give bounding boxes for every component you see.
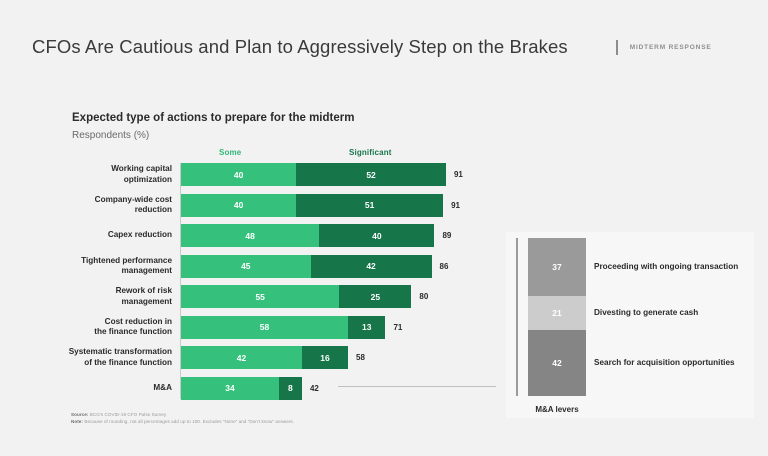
mna-segment: 21	[528, 296, 586, 329]
mna-caption: M&A levers	[528, 405, 586, 414]
bar-category-label-line: Working capital	[54, 164, 172, 175]
slide-header: CFOs Are Cautious and Plan to Aggressive…	[32, 33, 736, 61]
source-note: Source: BCG's COVID-19 CFO Pulse Survey	[71, 412, 294, 419]
bar-total-label: 91	[454, 163, 463, 186]
chart-subtitle: Respondents (%)	[72, 130, 149, 141]
bar-segment-significant: 25	[339, 285, 411, 308]
bar-category-label: Cost reduction inthe finance function	[54, 317, 172, 338]
bar-segment-some: 58	[181, 316, 348, 339]
bar-segment-significant: 8	[279, 377, 302, 400]
bar-segment-significant: 42	[311, 255, 432, 278]
bar-category-label-line: M&A	[54, 383, 172, 394]
bar-segment-some: 40	[181, 163, 296, 186]
bar-category-label-line: of the finance function	[54, 358, 172, 369]
bar-category-label-line: Cost reduction in	[54, 317, 172, 328]
header-divider	[616, 40, 618, 55]
method-note: Note: Because of rounding, not all perce…	[71, 419, 294, 426]
bar-total-label: 91	[451, 194, 460, 217]
bar-total-label: 80	[419, 285, 428, 308]
mna-connector-line	[338, 386, 496, 387]
bar-segment-significant: 13	[348, 316, 385, 339]
bar-total-label: 89	[442, 224, 451, 247]
note-text: Because of rounding, not all percentages…	[83, 419, 294, 424]
bar-segment-significant: 52	[296, 163, 446, 186]
source-label: Source:	[71, 412, 88, 417]
note-label: Note:	[71, 419, 83, 424]
header-tag-label: MIDTERM RESPONSE	[630, 44, 712, 51]
bar-segment-some: 40	[181, 194, 296, 217]
mna-segment: 42	[528, 330, 586, 396]
bar-category-label-line: Rework of risk	[54, 286, 172, 297]
bar-category-label-line: the finance function	[54, 327, 172, 338]
bar-category-label-line: optimization	[54, 175, 172, 186]
mna-category-label: Divesting to generate cash	[594, 308, 698, 317]
bar-segment-some: 42	[181, 346, 302, 369]
bar-category-label-line: reduction	[54, 205, 172, 216]
bar-segment-significant: 51	[296, 194, 443, 217]
footnotes: Source: BCG's COVID-19 CFO Pulse Survey …	[71, 412, 294, 425]
mna-category-label: Search for acquisition opportunities	[594, 358, 735, 367]
mna-segment: 37	[528, 238, 586, 296]
bar-category-label-line: Capex reduction	[54, 230, 172, 241]
chart-title: Expected type of actions to prepare for …	[72, 112, 354, 124]
bar-segment-some: 55	[181, 285, 339, 308]
bar-category-label: Tightened performancemanagement	[54, 256, 172, 277]
bar-category-label: Company-wide costreduction	[54, 195, 172, 216]
bar-segment-some: 34	[181, 377, 279, 400]
bar-category-label-line: management	[54, 266, 172, 277]
source-text: BCG's COVID-19 CFO Pulse Survey	[88, 412, 166, 417]
bar-segment-some: 45	[181, 255, 311, 278]
slide-canvas: CFOs Are Cautious and Plan to Aggressive…	[0, 0, 768, 456]
mna-panel-axis	[516, 238, 518, 396]
bar-category-label-line: management	[54, 297, 172, 308]
bar-category-label: Working capitaloptimization	[54, 164, 172, 185]
bar-chart-plot: 4052914051914840894542865525805813714216…	[181, 163, 481, 399]
mna-category-label: Proceeding with ongoing transaction	[594, 262, 738, 271]
bar-total-label: 58	[356, 346, 365, 369]
mna-stacked-bar: 372142	[528, 238, 586, 396]
bar-total-label: 86	[440, 255, 449, 278]
legend-item-some: Some	[219, 148, 241, 157]
bar-category-label-line: Company-wide cost	[54, 195, 172, 206]
bar-category-label: Capex reduction	[54, 230, 172, 241]
header-tag-group: MIDTERM RESPONSE	[616, 40, 712, 55]
bar-category-label: M&A	[54, 383, 172, 394]
legend-item-significant: Significant	[349, 148, 392, 157]
bar-total-label: 42	[310, 377, 319, 400]
chart-legend: Some Significant	[0, 148, 768, 160]
bar-category-label-line: Systematic transformation	[54, 347, 172, 358]
bar-category-label: Rework of riskmanagement	[54, 286, 172, 307]
bar-segment-significant: 40	[319, 224, 434, 247]
bar-segment-some: 48	[181, 224, 319, 247]
bar-category-label-line: Tightened performance	[54, 256, 172, 267]
page-title: CFOs Are Cautious and Plan to Aggressive…	[32, 36, 568, 58]
bar-segment-significant: 16	[302, 346, 348, 369]
bar-category-label: Systematic transformationof the finance …	[54, 347, 172, 368]
bar-total-label: 71	[393, 316, 402, 339]
